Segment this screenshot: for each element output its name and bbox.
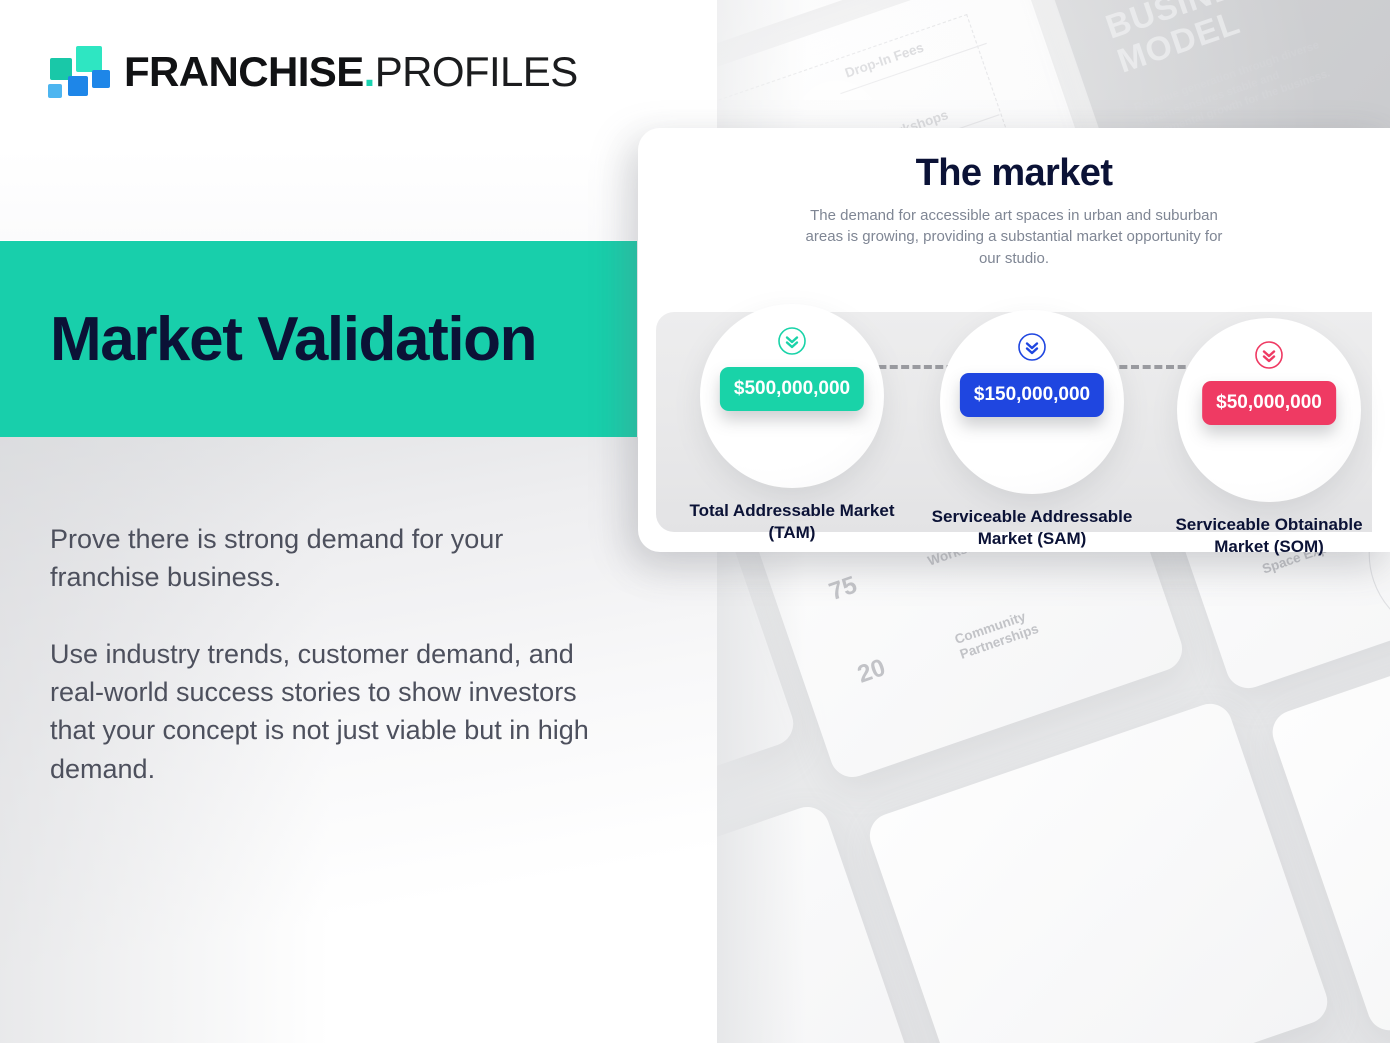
logo-square-blue-small: [92, 70, 110, 88]
logo-square-lightblue: [48, 84, 62, 98]
logo-mark-icon: [48, 44, 110, 100]
market-node-label: Total Addressable Market (TAM): [686, 500, 898, 543]
page-title-banner: Market Validation: [0, 241, 637, 437]
brand-name-bold: FRANCHISE: [124, 51, 364, 93]
brand-name-dot: .: [364, 51, 375, 93]
description-paragraph-2: Use industry trends, customer demand, an…: [50, 635, 595, 788]
double-chevron-down-circle-icon: [1254, 340, 1284, 370]
market-card-subtitle: The demand for accessible art spaces in …: [804, 205, 1224, 269]
market-node-label: Serviceable Obtainable Market (SOM): [1163, 514, 1375, 557]
market-node-label: Serviceable Addressable Market (SAM): [926, 506, 1138, 549]
brand-name-light: PROFILES: [375, 51, 578, 93]
double-chevron-down-circle-icon: [777, 326, 807, 356]
page-title: Market Validation: [50, 304, 536, 375]
market-card-title: The market: [638, 152, 1390, 195]
brand-wordmark: FRANCHISE.PROFILES: [124, 51, 578, 93]
brand-logo[interactable]: FRANCHISE.PROFILES: [48, 44, 578, 100]
logo-square-green: [76, 46, 102, 72]
double-chevron-down-circle-icon: [1017, 332, 1047, 362]
market-diagram: $500,000,000 Total Addressable Market (T…: [656, 312, 1372, 530]
market-node-value: $500,000,000: [720, 367, 864, 411]
market-node-value: $50,000,000: [1202, 381, 1336, 425]
description-block: Prove there is strong demand for your fr…: [50, 520, 595, 788]
left-top-area: [0, 0, 717, 240]
market-node-value: $150,000,000: [960, 373, 1104, 417]
logo-square-blue: [68, 76, 88, 96]
description-paragraph-1: Prove there is strong demand for your fr…: [50, 520, 595, 597]
market-card: The market The demand for accessible art…: [638, 128, 1390, 552]
